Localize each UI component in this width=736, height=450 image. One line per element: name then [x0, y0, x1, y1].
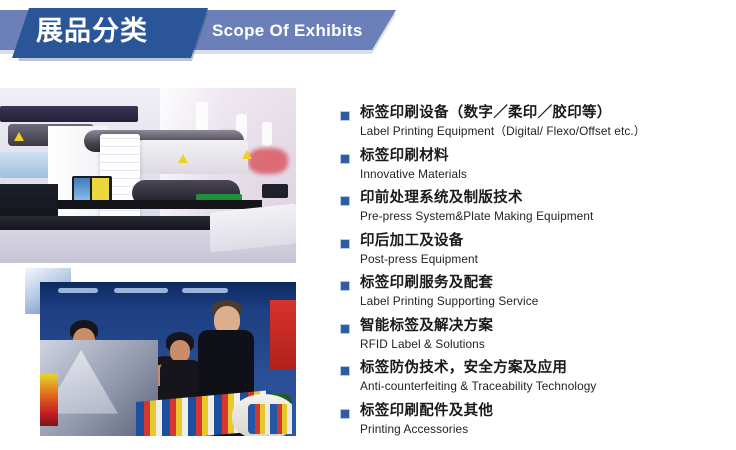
bullet-square-icon: [340, 154, 350, 164]
list-item-label-cn: 标签防伪技术，安全方案及应用: [360, 359, 567, 378]
bullet-square-icon: [340, 281, 350, 291]
label-printing-machine-photo: [0, 88, 296, 263]
warning-triangle-icon: [14, 132, 24, 141]
banner-title-en: Scope Of Exhibits: [212, 20, 363, 42]
person-head: [170, 340, 190, 362]
list-item-label-cn: 印后加工及设备: [360, 232, 464, 251]
list-item[interactable]: 标签印刷材料 Innovative Materials: [338, 147, 734, 190]
list-item-label-cn: 印前处理系统及制版技术: [360, 189, 523, 208]
photo1-red-blur: [248, 148, 288, 174]
list-item-label-en: Printing Accessories: [360, 421, 468, 437]
warning-triangle-icon: [178, 154, 188, 163]
list-item-label-en: Innovative Materials: [360, 166, 467, 182]
exhibit-scope-page: 展品分类 Scope Of Exhibits: [0, 0, 736, 450]
list-item-label-cn: 标签印刷材料: [360, 147, 449, 166]
photo2-ceiling-light: [114, 288, 168, 293]
list-item[interactable]: 标签印刷配件及其他 Printing Accessories: [338, 402, 734, 445]
photo1-bottle: [262, 122, 272, 146]
photo1-top-rail: [0, 106, 138, 122]
bullet-square-icon: [340, 366, 350, 376]
bullet-square-icon: [340, 324, 350, 334]
exhibition-visitors-photo: [40, 282, 296, 436]
photo2-colour-chart: [40, 374, 58, 426]
warning-triangle-icon: [242, 150, 252, 159]
list-item-label-cn: 标签印刷配件及其他: [360, 402, 493, 421]
section-banner: 展品分类 Scope Of Exhibits: [0, 8, 400, 60]
photo1-camera-label: [92, 178, 109, 202]
exhibit-category-list: 标签印刷设备（数字／柔印／胶印等） Label Printing Equipme…: [338, 104, 734, 444]
photo2-ceiling-light: [182, 288, 228, 293]
list-item-label-en: RFID Label & Solutions: [360, 336, 485, 352]
photo2-reel-printed-band: [248, 404, 296, 434]
photo2-ceiling-light: [58, 288, 98, 293]
bullet-square-icon: [340, 111, 350, 121]
photo2-red-banner: [270, 300, 296, 370]
list-item[interactable]: 标签印刷服务及配套 Label Printing Supporting Serv…: [338, 274, 734, 317]
photo1-bottle: [196, 102, 208, 132]
list-item-label-en: Pre-press System&Plate Making Equipment: [360, 208, 593, 224]
list-item[interactable]: 标签防伪技术，安全方案及应用 Anti-counterfeiting & Tra…: [338, 359, 734, 402]
list-item-label-cn: 智能标签及解决方案: [360, 317, 493, 336]
list-item-label-cn: 标签印刷服务及配套: [360, 274, 493, 293]
list-item-label-en: Label Printing Equipment（Digital/ Flexo/…: [360, 123, 646, 139]
list-item[interactable]: 印后加工及设备 Post-press Equipment: [338, 232, 734, 275]
list-item[interactable]: 智能标签及解决方案 RFID Label & Solutions: [338, 317, 734, 360]
banner-title-cn: 展品分类: [36, 15, 148, 49]
bullet-square-icon: [340, 196, 350, 206]
list-item-label-en: Anti-counterfeiting & Traceability Techn…: [360, 378, 596, 394]
bullet-square-icon: [340, 239, 350, 249]
list-item-label-en: Post-press Equipment: [360, 251, 478, 267]
photo1-sensor-arm: [262, 184, 288, 198]
list-item[interactable]: 标签印刷设备（数字／柔印／胶印等） Label Printing Equipme…: [338, 104, 734, 147]
list-item-label-cn: 标签印刷设备（数字／柔印／胶印等）: [360, 104, 612, 123]
list-item[interactable]: 印前处理系统及制版技术 Pre-press System&Plate Makin…: [338, 189, 734, 232]
photo2-ceiling: [40, 282, 296, 312]
bullet-square-icon: [340, 409, 350, 419]
list-item-label-en: Label Printing Supporting Service: [360, 293, 538, 309]
photo1-print-head-housing: [138, 140, 248, 174]
photo1-camera-screen: [74, 178, 90, 202]
